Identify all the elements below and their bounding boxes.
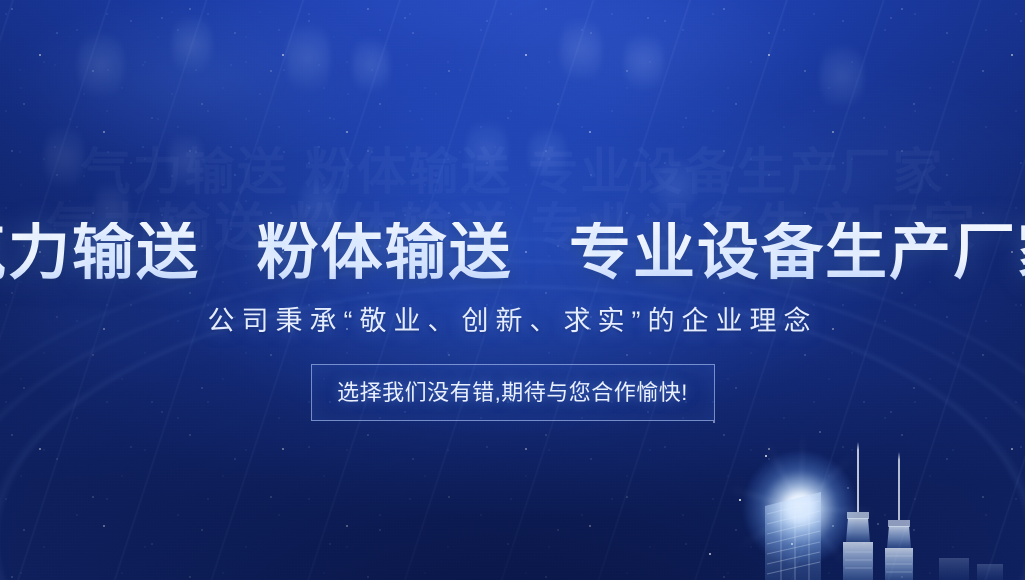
page-subtitle: 公司秉承“敬业、创新、求实”的企业理念	[208, 308, 818, 335]
cta-label: 选择我们没有错,期待与您合作愉快!	[337, 382, 688, 404]
headline-part-2: 粉体输送	[257, 218, 513, 287]
page-title: 气力输送 粉体输送 专业设备生产厂家	[0, 222, 1025, 284]
headline-part-3: 专业设备生产厂家	[569, 218, 1025, 287]
hero-banner: 气力输送 粉体输送 专业设备生产厂家 气力输送 粉体输送 专业设备生产厂家	[0, 0, 1025, 580]
banner-content: 气力输送 粉体输送 专业设备生产厂家 公司秉承“敬业、创新、求实”的企业理念 选…	[0, 0, 1025, 580]
cta-button[interactable]: 选择我们没有错,期待与您合作愉快!	[311, 364, 715, 421]
headline-part-1: 气力输送	[0, 218, 200, 287]
